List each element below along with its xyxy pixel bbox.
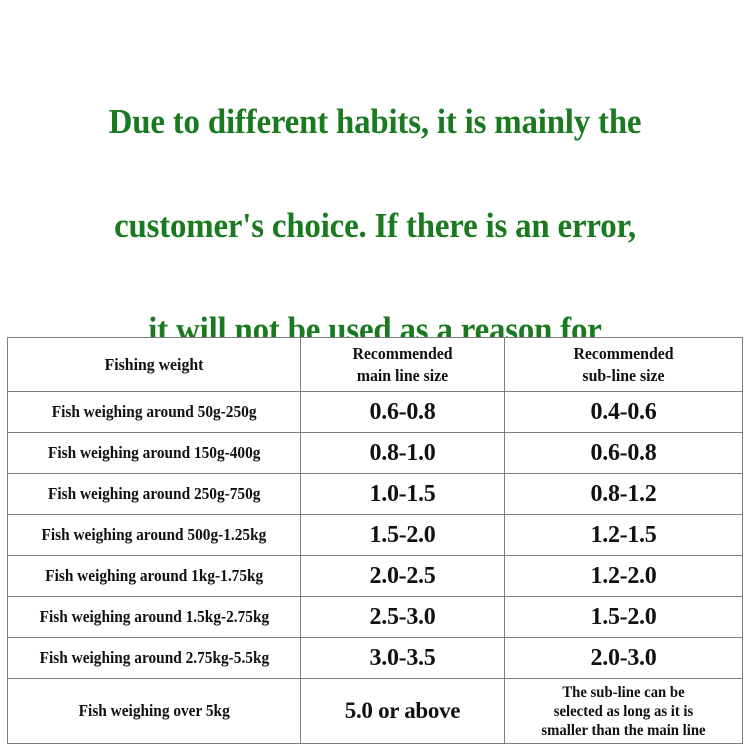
- table-row: Fish weighing around 250g-750g 1.0-1.5 0…: [8, 474, 743, 515]
- cell-fishing-weight: Fish weighing around 2.75kg-5.5kg: [8, 638, 301, 679]
- table-row: Fish weighing around 150g-400g 0.8-1.0 0…: [8, 433, 743, 474]
- cell-main-line-size: 2.0-2.5: [301, 556, 505, 597]
- cell-fishing-weight: Fish weighing around 1kg-1.75kg: [8, 556, 301, 597]
- table-row: Fish weighing around 500g-1.25kg 1.5-2.0…: [8, 515, 743, 556]
- cell-sub-line-size: 0.8-1.2: [505, 474, 743, 515]
- cell-fishing-weight-text: Fish weighing around 1.5kg-2.75kg: [39, 607, 269, 627]
- cell-main-line-size: 0.6-0.8: [301, 392, 505, 433]
- cell-sub-line-size: 1.2-2.0: [505, 556, 743, 597]
- line-size-recommendation-table: Fishing weight Recommended main line siz…: [7, 337, 743, 744]
- cell-sub-line-size: 0.4-0.6: [505, 392, 743, 433]
- cell-fishing-weight: Fish weighing around 250g-750g: [8, 474, 301, 515]
- cell-main-line-size: 1.0-1.5: [301, 474, 505, 515]
- cell-fishing-weight-text: Fish weighing over 5kg: [78, 701, 229, 721]
- cell-sub-line-size: 0.6-0.8: [505, 433, 743, 474]
- cell-fishing-weight-text: Fish weighing around 50g-250g: [52, 402, 257, 422]
- cell-fishing-weight-text: Fish weighing around 150g-400g: [48, 443, 260, 463]
- table-row: Fish weighing around 2.75kg-5.5kg 3.0-3.…: [8, 638, 743, 679]
- cell-fishing-weight: Fish weighing around 500g-1.25kg: [8, 515, 301, 556]
- table-row: Fish weighing around 50g-250g 0.6-0.8 0.…: [8, 392, 743, 433]
- cell-fishing-weight: Fish weighing over 5kg: [8, 679, 301, 744]
- table-row-over-5kg: Fish weighing over 5kg 5.0 or above The …: [8, 679, 743, 744]
- cell-sub-line-size: 2.0-3.0: [505, 638, 743, 679]
- column-header-sub-line-size-line-2: sub-line size: [517, 365, 730, 387]
- cell-sub-line-size: 1.2-1.5: [505, 515, 743, 556]
- cell-main-line-size: 5.0 or above: [301, 679, 505, 744]
- cell-fishing-weight: Fish weighing around 50g-250g: [8, 392, 301, 433]
- cell-fishing-weight-text: Fish weighing around 1kg-1.75kg: [45, 566, 263, 586]
- cell-sub-line-size: 1.5-2.0: [505, 597, 743, 638]
- cell-main-line-size: 0.8-1.0: [301, 433, 505, 474]
- cell-main-line-size: 1.5-2.0: [301, 515, 505, 556]
- cell-sub-line-note: The sub-line can be selected as long as …: [505, 679, 743, 744]
- cell-main-line-size: 3.0-3.5: [301, 638, 505, 679]
- cell-fishing-weight-text: Fish weighing around 2.75kg-5.5kg: [39, 648, 269, 668]
- cell-main-line-size: 2.5-3.0: [301, 597, 505, 638]
- cell-fishing-weight: Fish weighing around 1.5kg-2.75kg: [8, 597, 301, 638]
- column-header-main-line-size-line-2: main line size: [312, 365, 493, 387]
- column-header-sub-line-size: Recommended sub-line size: [505, 338, 743, 392]
- cell-fishing-weight-text: Fish weighing around 500g-1.25kg: [42, 525, 267, 545]
- column-header-fishing-weight: Fishing weight: [8, 338, 301, 392]
- cell-fishing-weight: Fish weighing around 150g-400g: [8, 433, 301, 474]
- cell-fishing-weight-text: Fish weighing around 250g-750g: [48, 484, 260, 504]
- column-header-fishing-weight-line-1: Fishing weight: [22, 354, 286, 376]
- cell-sub-line-note-line-3: smaller than the main line: [515, 721, 733, 740]
- headline-line-2: customer's choice. If there is an error,: [23, 200, 728, 252]
- cell-sub-line-note-line-2: selected as long as it is: [515, 702, 733, 721]
- column-header-main-line-size-line-1: Recommended: [312, 343, 493, 365]
- column-header-sub-line-size-line-1: Recommended: [517, 343, 730, 365]
- table-header-row: Fishing weight Recommended main line siz…: [8, 338, 743, 392]
- cell-sub-line-note-line-1: The sub-line can be: [515, 683, 733, 702]
- table-row: Fish weighing around 1kg-1.75kg 2.0-2.5 …: [8, 556, 743, 597]
- headline-line-1: Due to different habits, it is mainly th…: [23, 96, 728, 148]
- column-header-main-line-size: Recommended main line size: [301, 338, 505, 392]
- table-row: Fish weighing around 1.5kg-2.75kg 2.5-3.…: [8, 597, 743, 638]
